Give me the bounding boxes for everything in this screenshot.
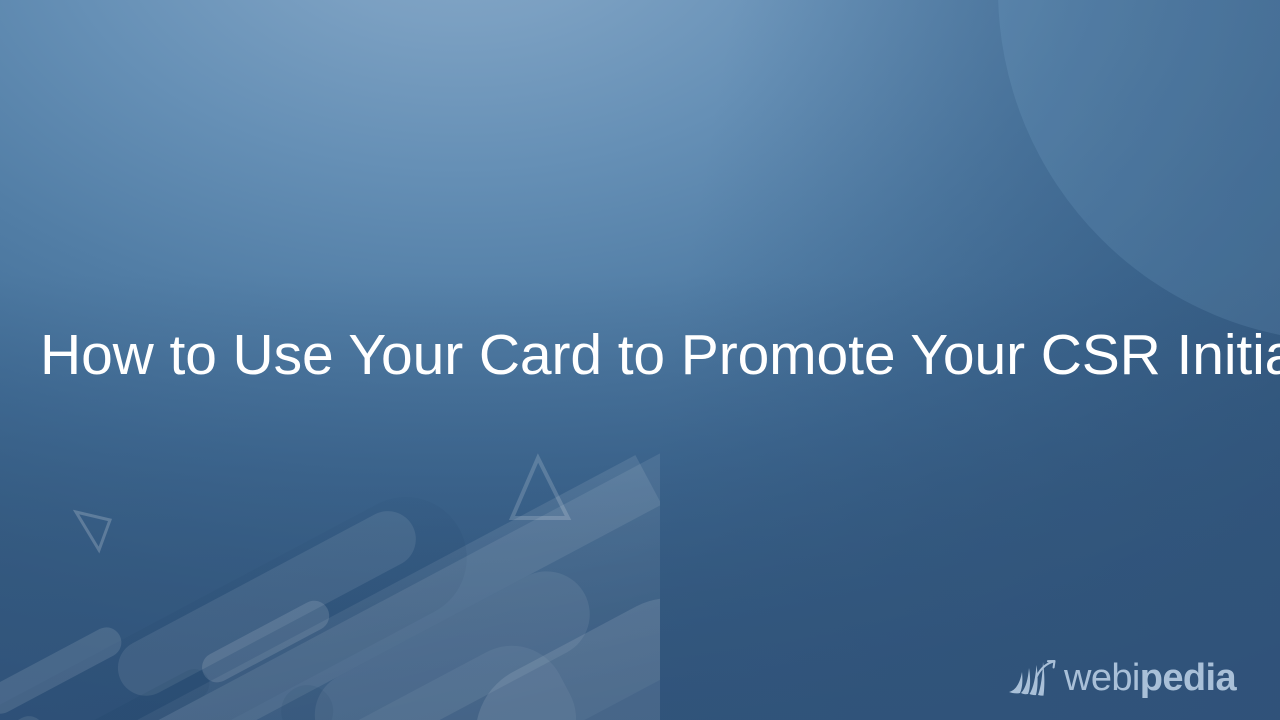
brand-logo-text-light: webi (1064, 657, 1140, 699)
ascending-bars-arrow-icon (1007, 659, 1059, 699)
presentation-slide: How to Use Your Card to Promote Your CSR… (0, 0, 1280, 720)
slide-title-container: How to Use Your Card to Promote Your CSR… (0, 322, 1280, 388)
brand-logo-text: webipedia (1064, 659, 1236, 697)
outlined-triangle-left (76, 512, 110, 550)
brand-logo[interactable]: webipedia (1007, 656, 1236, 702)
decorative-shapes-group (0, 430, 660, 720)
slide-title: How to Use Your Card to Promote Your CSR… (40, 322, 1280, 388)
brand-logo-text-bold: pedia (1140, 657, 1236, 699)
